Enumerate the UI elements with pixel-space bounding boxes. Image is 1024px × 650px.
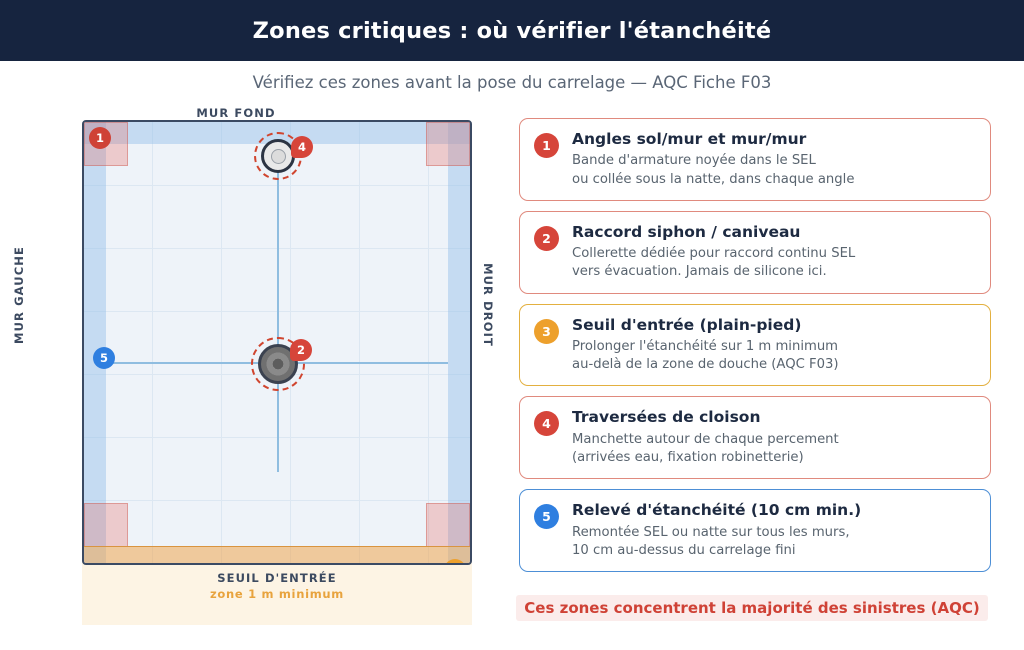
- zone-card-5-line2: 10 cm au-dessus du carrelage fini: [572, 542, 976, 560]
- zone-card-4-title: Traversées de cloison: [572, 408, 976, 427]
- grid-line-v: [152, 122, 153, 563]
- threshold-label-group: SEUIL D'ENTRÉE zone 1 m minimum: [82, 571, 472, 601]
- zone-card-3[interactable]: 3 Seuil d'entrée (plain-pied) Prolonger …: [519, 304, 991, 387]
- zone-card-5-line1: Remontée SEL ou natte sur tous les murs,: [572, 524, 976, 542]
- marker-badge-4[interactable]: 4: [291, 136, 313, 158]
- zone-card-1-badge: 1: [534, 133, 559, 158]
- grid-line-h: [84, 500, 470, 501]
- zone-card-4-line1: Manchette autour de chaque percement: [572, 431, 976, 449]
- upstand-band-right: [448, 122, 470, 563]
- label-threshold-sub: zone 1 m minimum: [82, 587, 472, 601]
- zone-card-2[interactable]: 2 Raccord siphon / caniveau Collerette d…: [519, 211, 991, 294]
- footer-warning-text: Ces zones concentrent la majorité des si…: [516, 595, 987, 621]
- grid-line-v: [428, 122, 429, 563]
- grid-line-v: [359, 122, 360, 563]
- page-header: Zones critiques : où vérifier l'étanchéi…: [0, 0, 1024, 61]
- bathroom-plan-diagram: MUR FOND MUR GAUCHE MUR DROIT SEUIL D'EN…: [0, 103, 500, 650]
- footer-warning-note: Ces zones concentrent la majorité des si…: [480, 595, 1024, 621]
- page-title: Zones critiques : où vérifier l'étanchéi…: [253, 18, 772, 44]
- upstand-band-left: [84, 122, 106, 563]
- zone-card-3-line1: Prolonger l'étanchéité sur 1 m minimum: [572, 338, 976, 356]
- zone-card-3-title: Seuil d'entrée (plain-pied): [572, 316, 976, 335]
- page-subtitle: Vérifiez ces zones avant la pose du carr…: [0, 61, 1024, 103]
- zone-card-5-title: Relevé d'étanchéité (10 cm min.): [572, 501, 976, 520]
- zone-card-3-badge: 3: [534, 319, 559, 344]
- grid-line-v: [221, 122, 222, 563]
- zone-card-5[interactable]: 5 Relevé d'étanchéité (10 cm min.) Remon…: [519, 489, 991, 572]
- zone-card-1-line1: Bande d'armature noyée dans le SEL: [572, 152, 976, 170]
- label-wall-right: MUR DROIT: [481, 255, 495, 355]
- corner-zone-bottom-left: [84, 503, 128, 547]
- zone-card-1[interactable]: 1 Angles sol/mur et mur/mur Bande d'arma…: [519, 118, 991, 201]
- critical-zones-card-list: 1 Angles sol/mur et mur/mur Bande d'arma…: [519, 118, 991, 582]
- zone-card-1-line2: ou collée sous la natte, dans chaque ang…: [572, 171, 976, 189]
- wall-penetration-icon: [261, 139, 295, 173]
- zone-card-1-title: Angles sol/mur et mur/mur: [572, 130, 976, 149]
- corner-zone-bottom-right: [426, 503, 470, 547]
- label-wall-left: MUR GAUCHE: [12, 245, 26, 345]
- zone-card-3-line2: au-delà de la zone de douche (AQC F03): [572, 356, 976, 374]
- zone-card-2-badge: 2: [534, 226, 559, 251]
- room-floor-plan: 4 2 1 5 3: [82, 120, 472, 565]
- label-wall-back: MUR FOND: [0, 106, 472, 120]
- marker-badge-5[interactable]: 5: [93, 347, 115, 369]
- zone-card-4-line2: (arrivées eau, fixation robinetterie): [572, 449, 976, 467]
- threshold-band: [84, 546, 470, 563]
- label-threshold-title: SEUIL D'ENTRÉE: [82, 571, 472, 585]
- zone-card-4-badge: 4: [534, 411, 559, 436]
- marker-badge-2[interactable]: 2: [290, 339, 312, 361]
- zone-card-2-line1: Collerette dédiée pour raccord continu S…: [572, 245, 976, 263]
- marker-badge-1[interactable]: 1: [89, 127, 111, 149]
- zone-card-2-line2: vers évacuation. Jamais de silicone ici.: [572, 263, 976, 281]
- zone-card-2-title: Raccord siphon / caniveau: [572, 223, 976, 242]
- pipe-line-vertical: [277, 152, 279, 472]
- corner-zone-top-right: [426, 122, 470, 166]
- zone-card-5-badge: 5: [534, 504, 559, 529]
- zone-card-4[interactable]: 4 Traversées de cloison Manchette autour…: [519, 396, 991, 479]
